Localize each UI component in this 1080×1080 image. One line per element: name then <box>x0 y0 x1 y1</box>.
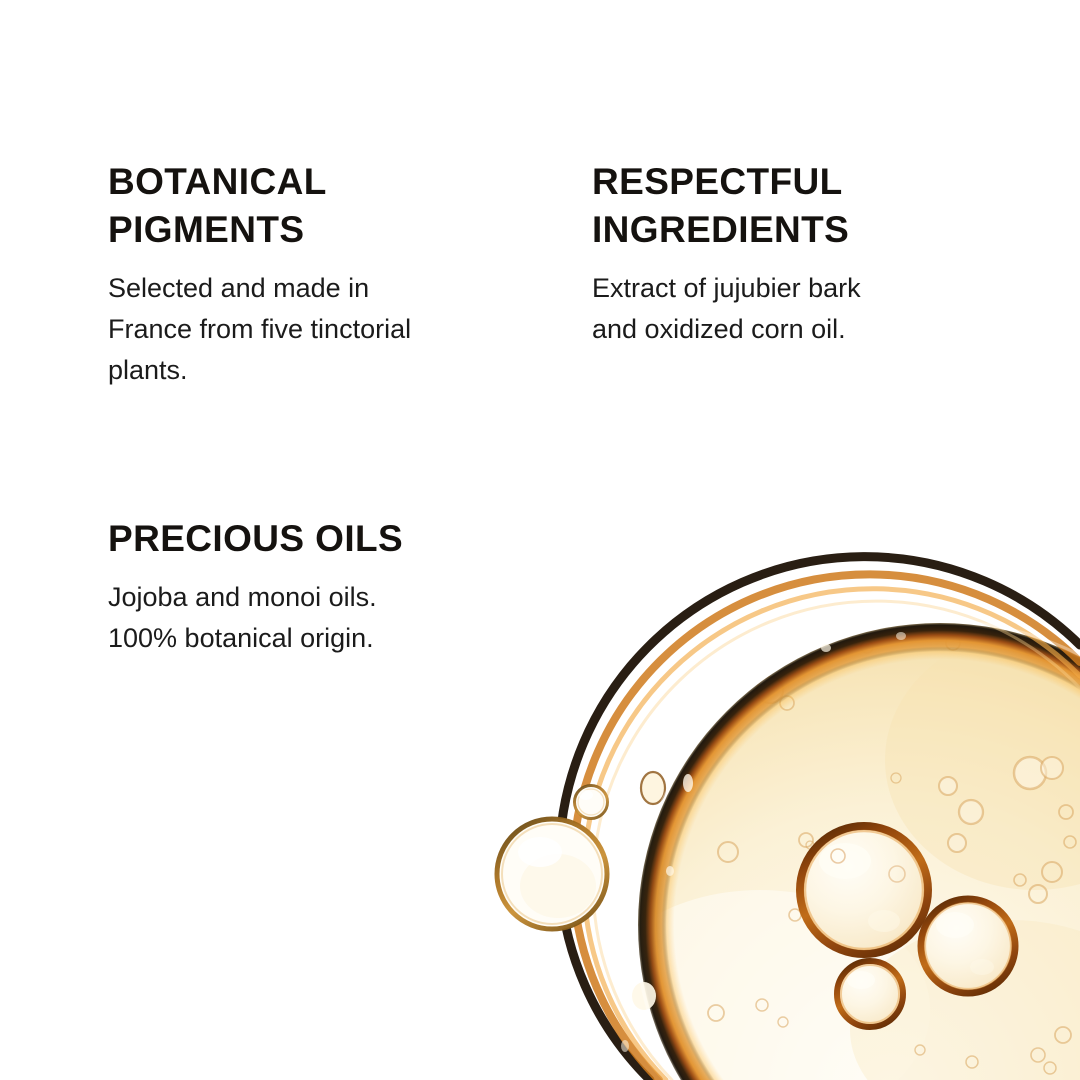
feature-botanical-pigments: BOTANICAL PIGMENTS Selected and made in … <box>108 158 528 391</box>
feature-list: BOTANICAL PIGMENTS Selected and made in … <box>0 0 1080 1080</box>
feature-body-precious-oils: Jojoba and monoi oils. 100% botanical or… <box>108 577 538 659</box>
feature-precious-oils: PRECIOUS OILS Jojoba and monoi oils. 100… <box>108 515 538 659</box>
feature-title-precious-oils: PRECIOUS OILS <box>108 515 538 563</box>
feature-title-botanical-pigments: BOTANICAL PIGMENTS <box>108 158 528 254</box>
feature-body-botanical-pigments: Selected and made in France from five ti… <box>108 268 528 391</box>
feature-body-respectful-ingredients: Extract of jujubier bark and oxidized co… <box>592 268 1022 350</box>
feature-title-respectful-ingredients: RESPECTFUL INGREDIENTS <box>592 158 1022 254</box>
feature-respectful-ingredients: RESPECTFUL INGREDIENTS Extract of jujubi… <box>592 158 1022 350</box>
product-feature-panel: BOTANICAL PIGMENTS Selected and made in … <box>0 0 1080 1080</box>
